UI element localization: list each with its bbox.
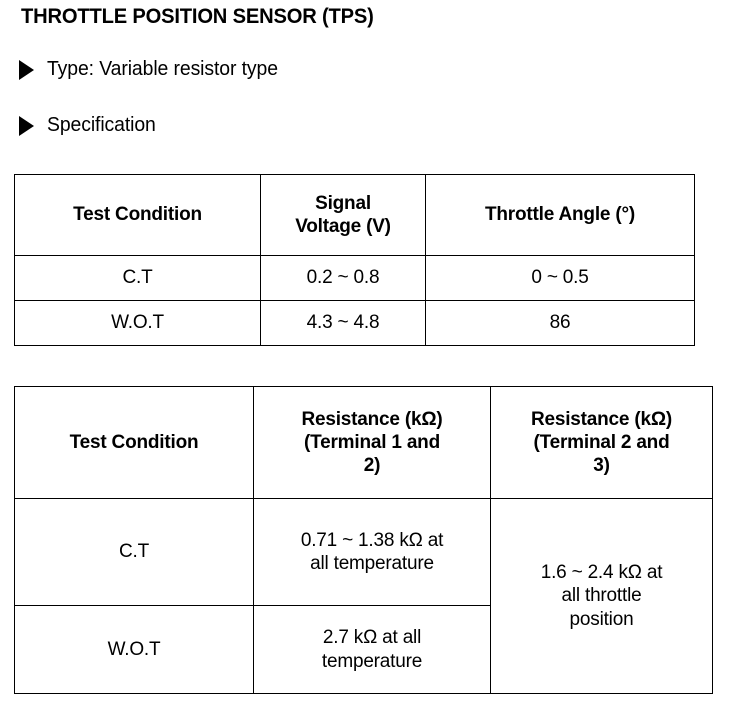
column-header-resistance-terminal-2-3: Resistance (kΩ) (Terminal 2 and 3) xyxy=(491,387,713,499)
table-row: C.T 0.2 ~ 0.8 0 ~ 0.5 xyxy=(15,256,695,301)
bullet-item-specification: Specification xyxy=(19,114,159,137)
resistance-specification-table: Test Condition Resistance (kΩ) (Terminal… xyxy=(14,386,713,694)
voltage-specification-table: Test Condition Signal Voltage (V) Thrott… xyxy=(14,174,695,346)
column-header-test-condition: Test Condition xyxy=(15,175,261,256)
cell-resistance-terminal-1-2-line2: all temperature xyxy=(310,553,434,574)
cell-resistance-terminal-1-2-line1: 0.71 ~ 1.38 kΩ at xyxy=(301,530,443,551)
column-header-signal-voltage-line1: Signal xyxy=(315,193,371,214)
column-header-resistance-terminal-2-3-line2: (Terminal 2 and xyxy=(533,432,669,453)
cell-test-condition: C.T xyxy=(15,256,261,301)
triangle-right-icon xyxy=(19,116,34,136)
cell-resistance-terminal-1-2: 0.71 ~ 1.38 kΩ at all temperature xyxy=(254,499,491,606)
cell-test-condition: C.T xyxy=(15,499,254,606)
cell-resistance-terminal-1-2: 2.7 kΩ at all temperature xyxy=(254,606,491,694)
cell-resistance-terminal-2-3-line3: position xyxy=(570,609,634,630)
cell-throttle-angle: 86 xyxy=(426,301,695,346)
triangle-right-icon xyxy=(19,60,34,80)
page-title: THROTTLE POSITION SENSOR (TPS) xyxy=(21,5,374,29)
column-header-test-condition: Test Condition xyxy=(15,387,254,499)
cell-signal-voltage: 0.2 ~ 0.8 xyxy=(261,256,426,301)
table-header-row: Test Condition Resistance (kΩ) (Terminal… xyxy=(15,387,713,499)
cell-resistance-terminal-2-3: 1.6 ~ 2.4 kΩ at all throttle position xyxy=(491,499,713,694)
bullet-item-specification-label: Specification xyxy=(47,114,156,137)
cell-resistance-terminal-2-3-line2: all throttle xyxy=(562,585,642,606)
column-header-resistance-terminal-1-2-line1: Resistance (kΩ) xyxy=(301,409,442,430)
bullet-item-type: Type: Variable resistor type xyxy=(19,58,285,81)
bullet-item-type-label: Type: Variable resistor type xyxy=(47,58,278,81)
column-header-resistance-terminal-1-2: Resistance (kΩ) (Terminal 1 and 2) xyxy=(254,387,491,499)
table-row: C.T 0.71 ~ 1.38 kΩ at all temperature 1.… xyxy=(15,499,713,606)
column-header-resistance-terminal-2-3-line3: 3) xyxy=(593,455,610,476)
column-header-resistance-terminal-1-2-line2: (Terminal 1 and xyxy=(304,432,440,453)
cell-resistance-terminal-1-2-line2: temperature xyxy=(322,651,422,672)
column-header-throttle-angle: Throttle Angle (°) xyxy=(426,175,695,256)
cell-test-condition: W.O.T xyxy=(15,301,261,346)
column-header-signal-voltage-line2: Voltage (V) xyxy=(295,216,391,237)
cell-resistance-terminal-2-3-line1: 1.6 ~ 2.4 kΩ at xyxy=(541,562,663,583)
cell-resistance-terminal-1-2-line1: 2.7 kΩ at all xyxy=(323,627,421,648)
column-header-signal-voltage: Signal Voltage (V) xyxy=(261,175,426,256)
column-header-resistance-terminal-2-3-line1: Resistance (kΩ) xyxy=(531,409,672,430)
cell-test-condition: W.O.T xyxy=(15,606,254,694)
table-header-row: Test Condition Signal Voltage (V) Thrott… xyxy=(15,175,695,256)
column-header-resistance-terminal-1-2-line3: 2) xyxy=(364,455,381,476)
cell-throttle-angle: 0 ~ 0.5 xyxy=(426,256,695,301)
cell-signal-voltage: 4.3 ~ 4.8 xyxy=(261,301,426,346)
table-row: W.O.T 4.3 ~ 4.8 86 xyxy=(15,301,695,346)
